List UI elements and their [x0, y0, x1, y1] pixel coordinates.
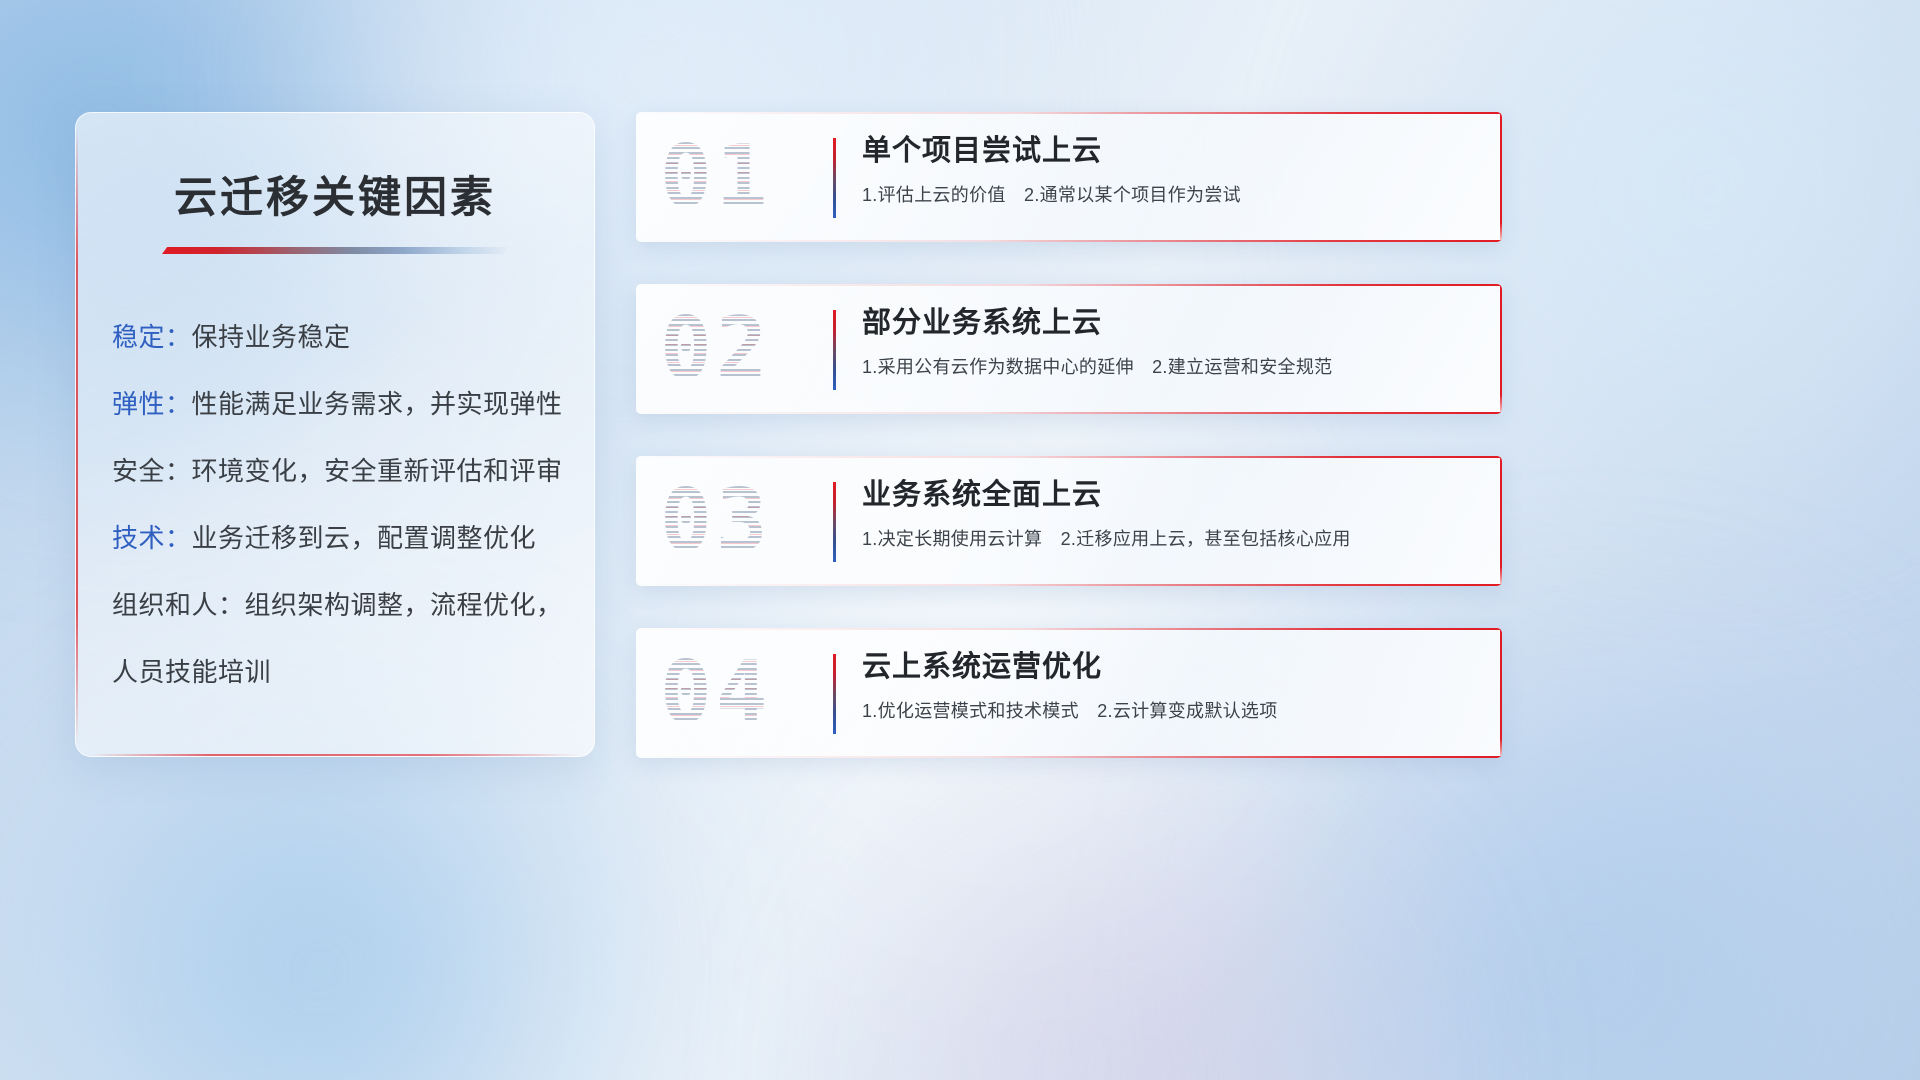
step-description: 1.采用公有云作为数据中心的延伸 2.建立运营和安全规范 — [862, 353, 1474, 379]
step-title: 云上系统运营优化 — [862, 651, 1474, 684]
factor-label: 弹性： — [112, 389, 192, 419]
step-description: 1.评估上云的价值 2.通常以某个项目作为尝试 — [862, 181, 1474, 207]
factor-text: 环境变化，安全重新评估和评审 — [192, 456, 563, 486]
step-text-block: 部分业务系统上云1.采用公有云作为数据中心的延伸 2.建立运营和安全规范 — [862, 307, 1474, 379]
card-top-accent-line — [636, 628, 1502, 630]
factor-text: 保持业务稳定 — [192, 322, 351, 352]
factor-text: 业务迁移到云，配置调整优化 — [192, 523, 537, 553]
step-card[interactable]: 0303业务系统全面上云1.决定长期使用云计算 2.迁移应用上云，甚至包括核心应… — [636, 456, 1502, 586]
step-number-watermark-tint: 04 — [660, 643, 772, 743]
factor-label: 稳定： — [112, 322, 192, 352]
factor-label: 安全： — [112, 456, 192, 486]
factor-list: 稳定：保持业务稳定弹性：性能满足业务需求，并实现弹性安全：环境变化，安全重新评估… — [112, 324, 594, 685]
factor-line: 弹性：性能满足业务需求，并实现弹性 — [112, 391, 594, 417]
step-divider-bar — [833, 482, 836, 562]
factor-line: 技术：业务迁移到云，配置调整优化 — [112, 525, 594, 551]
card-right-accent-line — [1500, 456, 1502, 586]
factor-label: 组织和人： — [112, 590, 245, 620]
step-card[interactable]: 0404云上系统运营优化1.优化运营模式和技术模式 2.云计算变成默认选项 — [636, 628, 1502, 758]
card-right-accent-line — [1500, 284, 1502, 414]
step-description: 1.决定长期使用云计算 2.迁移应用上云，甚至包括核心应用 — [862, 525, 1474, 551]
factor-text: 性能满足业务需求，并实现弹性 — [192, 389, 563, 419]
factor-line: 稳定：保持业务稳定 — [112, 324, 594, 350]
step-card[interactable]: 0101单个项目尝试上云1.评估上云的价值 2.通常以某个项目作为尝试 — [636, 112, 1502, 242]
step-divider-bar — [833, 138, 836, 218]
step-number-watermark-tint: 02 — [660, 299, 772, 399]
factor-label: 技术： — [112, 523, 192, 553]
step-number-watermark-tint: 03 — [660, 471, 772, 571]
card-bottom-accent-line — [636, 756, 1502, 758]
card-bottom-accent-line — [636, 412, 1502, 414]
card-right-accent-line — [1500, 112, 1502, 242]
factor-line: 组织和人：组织架构调整，流程优化， — [112, 592, 594, 618]
step-divider-bar — [833, 310, 836, 390]
page-title: 云迁移关键因素 — [76, 163, 594, 225]
step-card[interactable]: 0202部分业务系统上云1.采用公有云作为数据中心的延伸 2.建立运营和安全规范 — [636, 284, 1502, 414]
factor-text: 组织架构调整，流程优化， — [245, 590, 563, 620]
step-title: 单个项目尝试上云 — [862, 135, 1474, 168]
step-text-block: 业务系统全面上云1.决定长期使用云计算 2.迁移应用上云，甚至包括核心应用 — [862, 479, 1474, 551]
card-top-accent-line — [636, 456, 1502, 458]
step-description: 1.优化运营模式和技术模式 2.云计算变成默认选项 — [862, 697, 1474, 723]
factor-text: 人员技能培训 — [112, 657, 271, 687]
step-divider-bar — [833, 654, 836, 734]
card-bottom-accent-line — [636, 240, 1502, 242]
step-title: 业务系统全面上云 — [862, 479, 1474, 512]
migration-steps-list: 0101单个项目尝试上云1.评估上云的价值 2.通常以某个项目作为尝试0202部… — [636, 112, 1502, 758]
card-right-accent-line — [1500, 628, 1502, 758]
step-text-block: 单个项目尝试上云1.评估上云的价值 2.通常以某个项目作为尝试 — [862, 135, 1474, 207]
step-number-watermark-tint: 01 — [660, 127, 772, 227]
card-top-accent-line — [636, 112, 1502, 114]
factor-line: 人员技能培训 — [112, 659, 594, 685]
title-underline-gradient — [162, 247, 508, 254]
card-top-accent-line — [636, 284, 1502, 286]
card-bottom-accent-line — [636, 584, 1502, 586]
key-factors-card: 云迁移关键因素 稳定：保持业务稳定弹性：性能满足业务需求，并实现弹性安全：环境变… — [75, 112, 595, 757]
factor-line: 安全：环境变化，安全重新评估和评审 — [112, 458, 594, 484]
step-text-block: 云上系统运营优化1.优化运营模式和技术模式 2.云计算变成默认选项 — [862, 651, 1474, 723]
step-title: 部分业务系统上云 — [862, 307, 1474, 340]
